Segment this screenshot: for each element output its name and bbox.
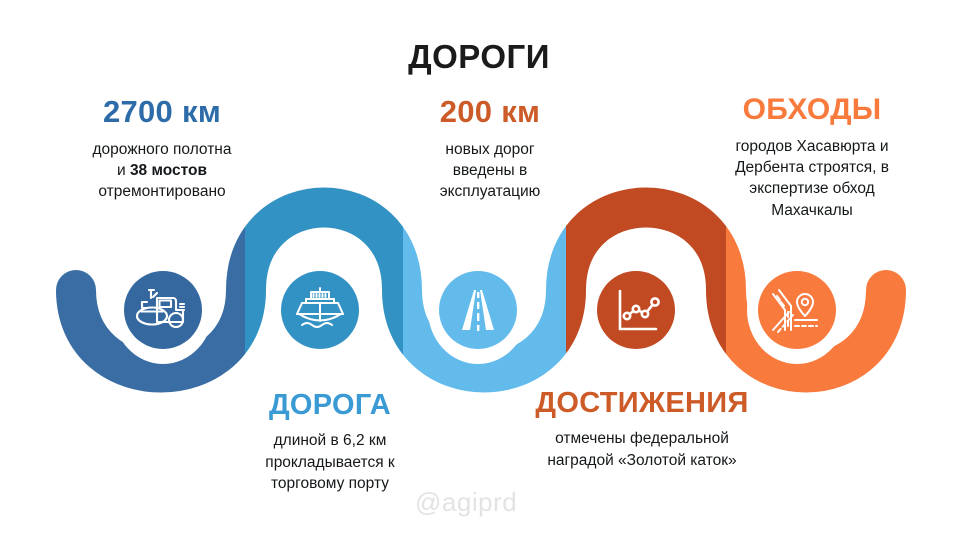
- stat-line: эксплуатацию: [368, 181, 612, 202]
- stat-line: отремонтировано: [26, 181, 298, 202]
- stat-line: длиной в 6,2 км: [205, 430, 455, 451]
- stat-line: новых дорог: [368, 139, 612, 160]
- stat-line: прокладывается к: [205, 452, 455, 473]
- stat-heading-awards: ДОСТИЖЕНИЯ: [492, 388, 792, 418]
- icon-bubble-ship[interactable]: [281, 271, 359, 349]
- map-pin-circle[interactable]: [758, 271, 836, 349]
- stat-heading-port-road: ДОРОГА: [205, 390, 455, 420]
- icon-bubble-map-pin[interactable]: [758, 271, 836, 349]
- stat-line-prefix: и: [117, 162, 130, 179]
- icon-bubble-highway[interactable]: [439, 271, 517, 349]
- stat-line: введены в: [368, 160, 612, 181]
- stat-block-awards: ДОСТИЖЕНИЯ отмечены федеральной наградой…: [492, 388, 792, 471]
- stat-body-repaired: дорожного полотна и 38 мостов отремонтир…: [26, 139, 298, 203]
- stat-line: отмечены федеральной: [492, 428, 792, 449]
- stat-heading-new-roads: 200 км: [368, 96, 612, 129]
- stat-line-bold: 38 мостов: [130, 162, 207, 179]
- stat-line: Махачкалы: [674, 200, 950, 221]
- wave-ribbon-diagram: [0, 0, 958, 539]
- stat-block-port-road: ДОРОГА длиной в 6,2 км прокладывается к …: [205, 390, 455, 495]
- stat-block-new-roads: 200 км новых дорог введены в эксплуатаци…: [368, 96, 612, 203]
- stat-body-awards: отмечены федеральной наградой «Золотой к…: [492, 428, 792, 471]
- watermark: @agiprd: [415, 487, 517, 518]
- stat-body-bypasses: городов Хасавюрта и Дербента строятся, в…: [674, 136, 950, 222]
- stat-line: городов Хасавюрта и: [674, 136, 950, 157]
- highway-circle[interactable]: [439, 271, 517, 349]
- infographic-canvas: ДОРОГИ: [0, 0, 958, 539]
- stat-body-new-roads: новых дорог введены в эксплуатацию: [368, 139, 612, 203]
- stat-body-port-road: длиной в 6,2 км прокладывается к торгово…: [205, 430, 455, 494]
- stat-heading-bypasses: ОБХОДЫ: [674, 94, 950, 126]
- stat-heading-repaired: 2700 км: [26, 96, 298, 129]
- icon-bubble-line-chart[interactable]: [597, 271, 675, 349]
- icon-bubble-road-roller[interactable]: [124, 271, 202, 349]
- stat-line: дорожного полотна: [26, 139, 298, 160]
- stat-block-bypasses: ОБХОДЫ городов Хасавюрта и Дербента стро…: [674, 94, 950, 221]
- stat-block-repaired: 2700 км дорожного полотна и 38 мостов от…: [26, 96, 298, 203]
- stat-line: экспертизе обход: [674, 178, 950, 199]
- stat-line: и 38 мостов: [26, 160, 298, 181]
- stat-line: Дербента строятся, в: [674, 157, 950, 178]
- stat-line: наградой «Золотой каток»: [492, 450, 792, 471]
